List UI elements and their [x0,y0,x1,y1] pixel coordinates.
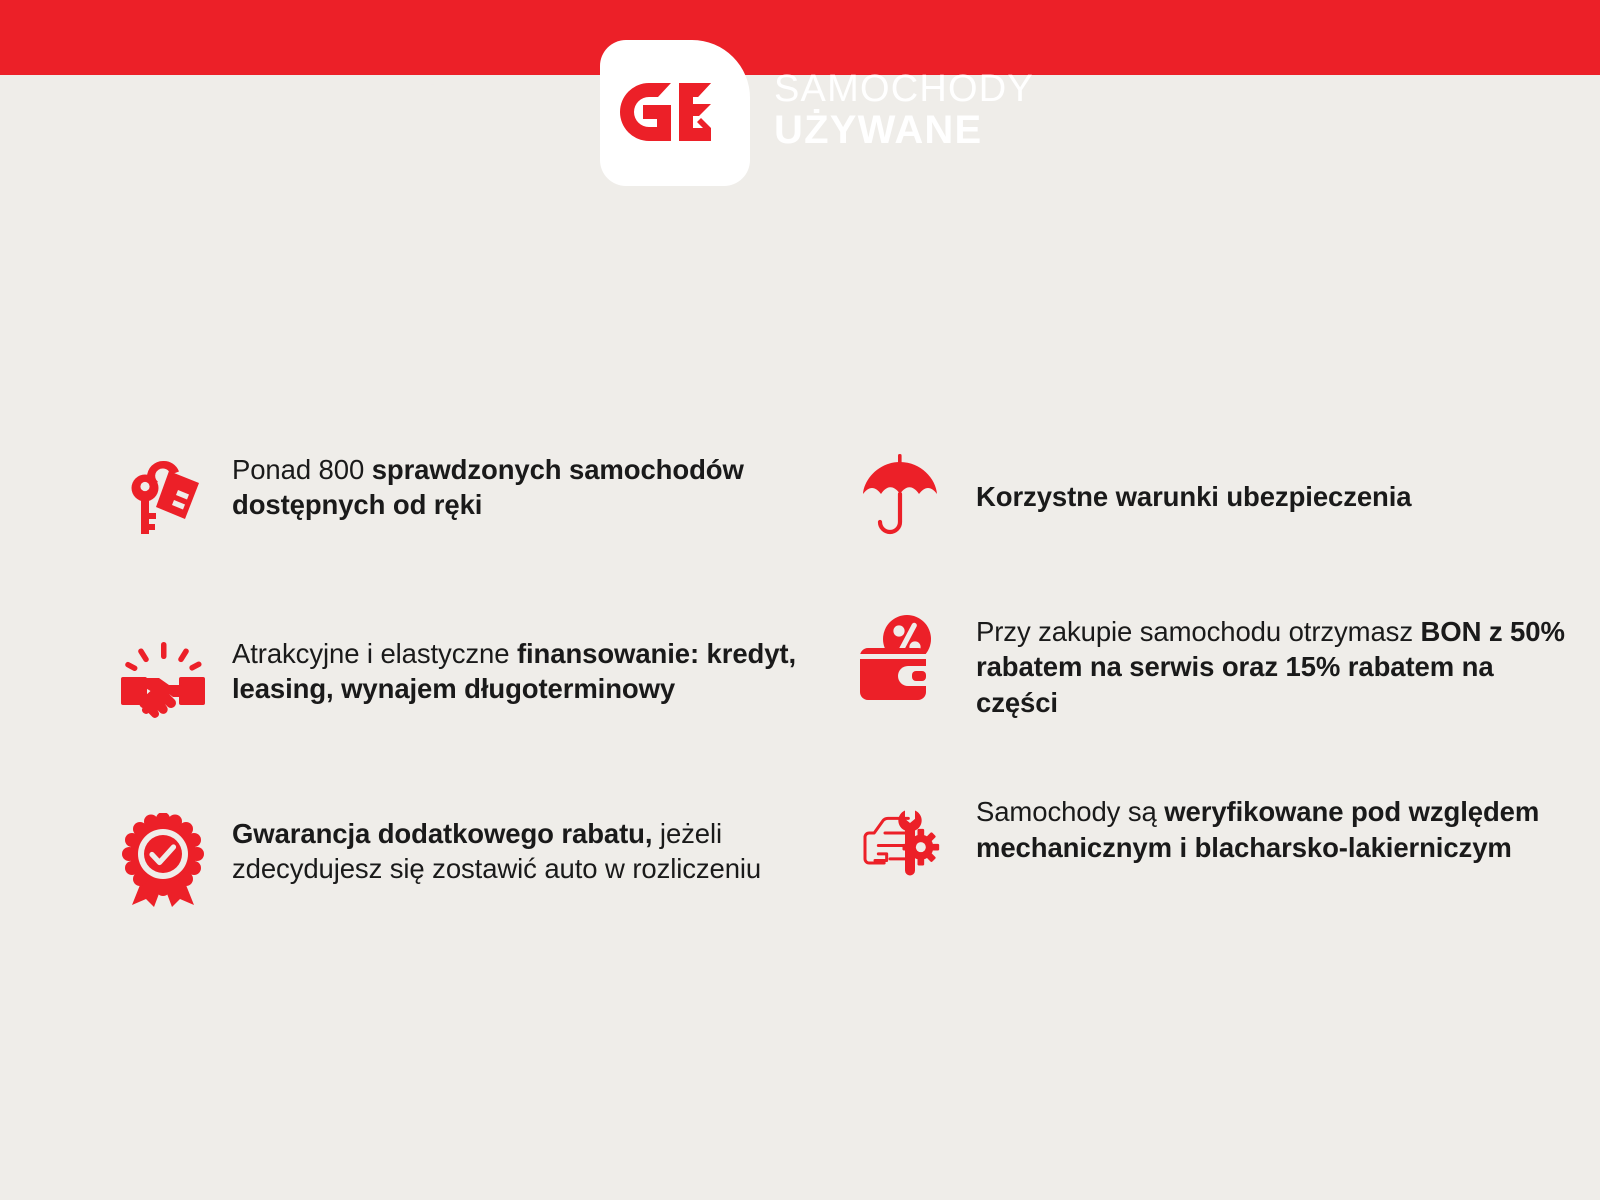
features-column-right: Korzystne warunki ubezpieczenia [860,440,1580,906]
brand-logo[interactable]: SAMOCHODY UŻYWANE [600,40,1034,186]
feature-item-available-cars: Ponad 800 sprawdzonych samochodów dostęp… [120,450,840,542]
wallet-percent-icon [860,612,940,704]
feature-text-part: Ponad 800 [232,454,372,485]
feature-text: Atrakcyjne i elastyczne finansowanie: kr… [232,634,840,707]
feature-text-part: Atrakcyjne i elastyczne [232,638,517,669]
feature-text-part-bold: Korzystne warunki ubezpieczenia [976,481,1412,512]
car-service-icon [860,792,940,884]
gb-monogram-icon [619,83,731,143]
feature-item-financing: Atrakcyjne i elastyczne finansowanie: kr… [120,634,840,726]
brand-wordmark: SAMOCHODY UŻYWANE [774,70,1034,155]
feature-text: Gwarancja dodatkowego rabatu, jeżeli zde… [232,814,840,887]
brand-line-1: SAMOCHODY [774,70,1034,110]
handshake-icon [120,634,206,726]
award-badge-icon [120,814,206,906]
feature-item-vehicle-inspection: Samochody są weryfikowane pod względem m… [860,792,1580,884]
feature-text-part: Samochody są [976,796,1164,827]
feature-text: Korzystne warunki ubezpieczenia [976,477,1412,514]
features-grid: Ponad 800 sprawdzonych samochodów dostęp… [0,440,1600,906]
feature-text: Ponad 800 sprawdzonych samochodów dostęp… [232,450,840,523]
feature-item-extra-discount: Gwarancja dodatkowego rabatu, jeżeli zde… [120,814,840,906]
umbrella-icon [860,450,940,542]
feature-text: Samochody są weryfikowane pod względem m… [976,792,1580,865]
feature-text-part-bold: Gwarancja dodatkowego rabatu, [232,818,652,849]
feature-text-part: Przy zakupie samochodu otrzymasz [976,616,1421,647]
feature-item-service-voucher: Przy zakupie samochodu otrzymasz BON z 5… [860,612,1580,720]
feature-text: Przy zakupie samochodu otrzymasz BON z 5… [976,612,1580,720]
feature-item-insurance: Korzystne warunki ubezpieczenia [860,450,1580,542]
features-column-left: Ponad 800 sprawdzonych samochodów dostęp… [120,440,840,906]
car-keys-icon [120,450,206,542]
logo-mark-tile [600,40,750,186]
brand-line-2: UŻYWANE [774,110,1034,152]
